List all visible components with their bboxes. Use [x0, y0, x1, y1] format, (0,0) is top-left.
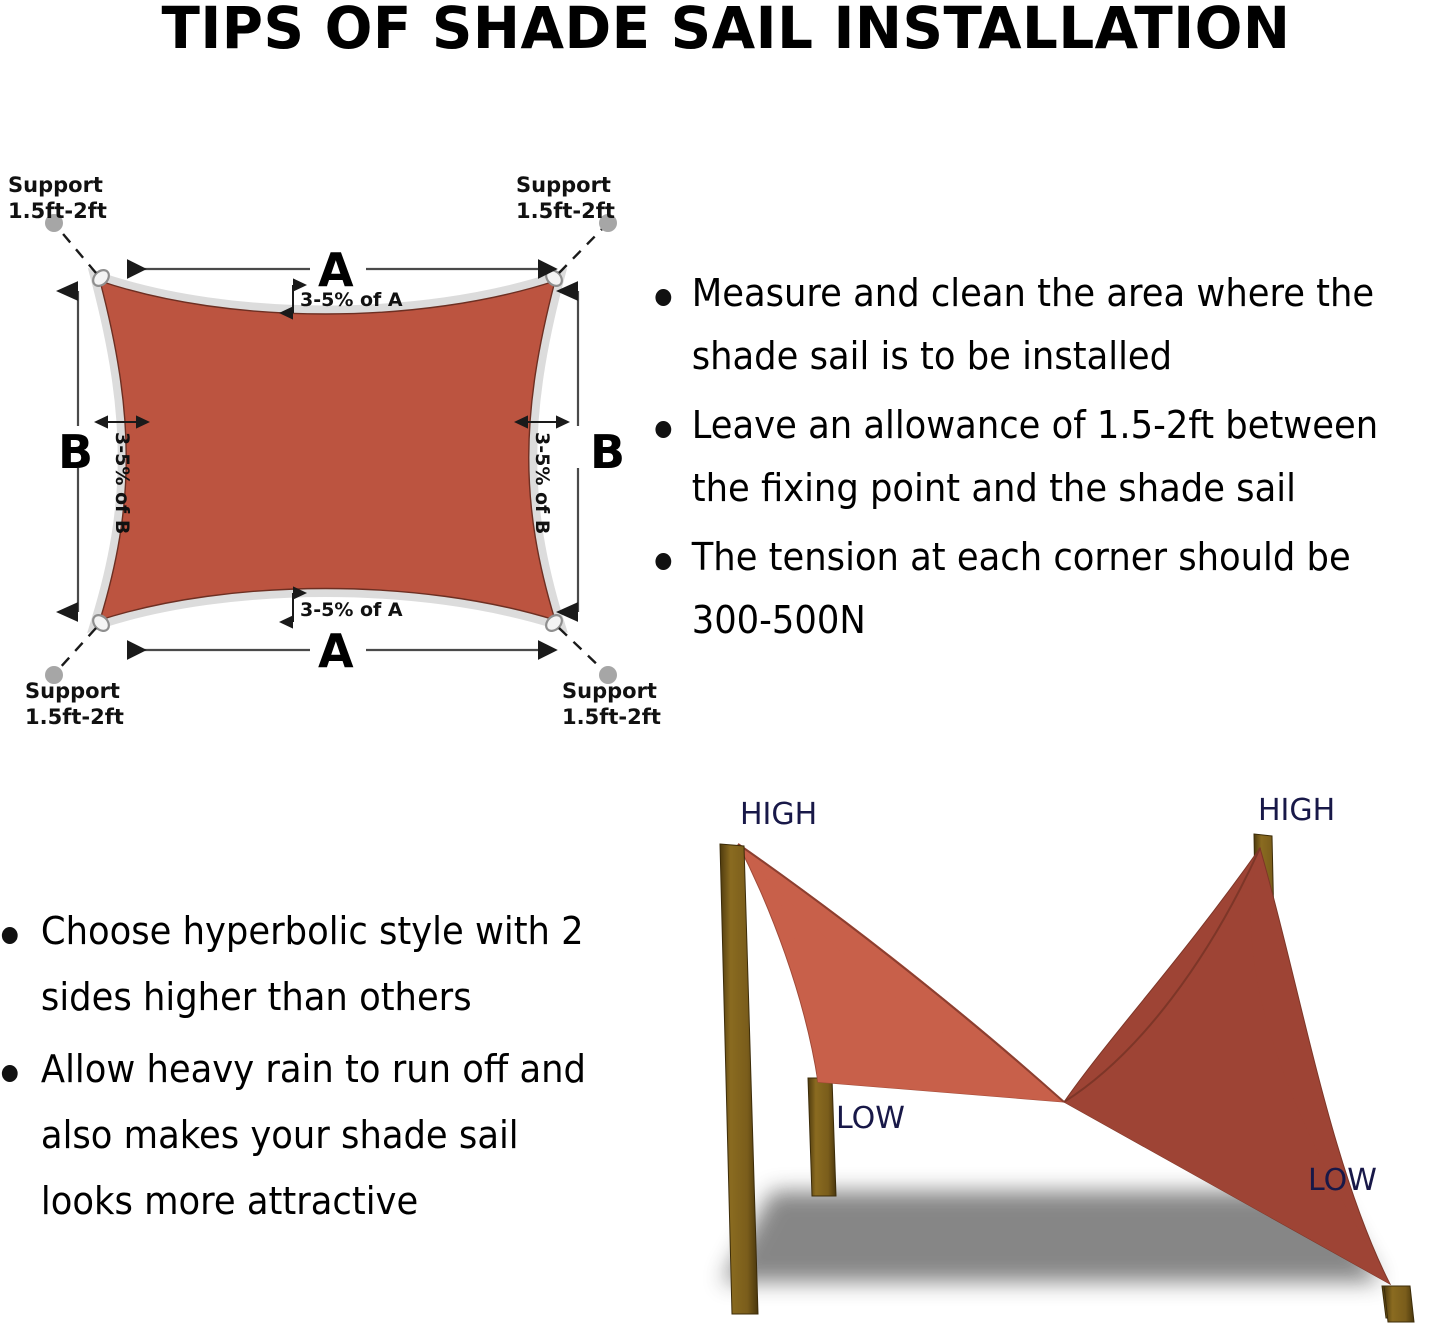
support-tether [58, 228, 96, 273]
support-label-line2: 1.5ft-2ft [25, 705, 124, 729]
hyperbolic-style-notes: Choose hyperbolic style with 2 sides hig… [0, 898, 640, 1240]
tips-bullet-list: Measure and clean the area where the sha… [648, 262, 1452, 652]
support-label-line1: Support [8, 173, 103, 197]
curvature-left: 3-5% of B [108, 422, 136, 534]
tip-text: The tension at each corner should be 300… [692, 535, 1351, 642]
list-item: Leave an allowance of 1.5-2ft between th… [648, 394, 1396, 520]
support-label-line2: 1.5ft-2ft [562, 705, 661, 729]
support-label-line1: Support [562, 679, 657, 703]
support-label-line2: 1.5ft-2ft [516, 199, 615, 223]
dimension-a-bottom: A [127, 624, 538, 678]
support-post-low-left [808, 1078, 836, 1196]
support-tether [559, 628, 603, 670]
support-label-bottom-left: Support 1.5ft-2ft [25, 679, 124, 729]
tip-text: Leave an allowance of 1.5-2ft between th… [692, 403, 1378, 510]
bullet-dot-icon [655, 289, 671, 306]
corner-label-high-left: HIGH [740, 797, 817, 832]
bullet-dot-icon [655, 553, 671, 570]
list-item: Allow heavy rain to run off and also mak… [0, 1036, 595, 1234]
support-label-top-right: Support 1.5ft-2ft [516, 173, 615, 223]
curvature-label: 3-5% of B [111, 432, 133, 534]
corner-label-high-right: HIGH [1258, 793, 1335, 828]
list-item: Measure and clean the area where the sha… [648, 262, 1396, 388]
support-post-high-left [720, 844, 758, 1314]
note-text: Allow heavy rain to run off and also mak… [41, 1047, 586, 1223]
dimension-a-label: A [318, 624, 354, 678]
list-item: Choose hyperbolic style with 2 sides hig… [0, 898, 595, 1030]
support-label-bottom-right: Support 1.5ft-2ft [562, 679, 661, 729]
page-title: TIPS OF SHADE SAIL INSTALLATION [22, 0, 1430, 60]
curvature-top: 3-5% of A [293, 285, 403, 313]
dimension-b-label: B [58, 425, 93, 479]
support-post-low-right [1384, 1286, 1414, 1322]
curvature-right: 3-5% of B [528, 422, 556, 534]
support-label-line1: Support [25, 679, 120, 703]
corner-label-low-right: LOW [1308, 1163, 1377, 1198]
dimension-b-left: B [58, 291, 93, 612]
dimension-b-label: B [590, 425, 625, 479]
curvature-label: 3-5% of A [300, 599, 403, 621]
support-label-line1: Support [516, 173, 611, 197]
support-label-top-left: Support 1.5ft-2ft [8, 173, 107, 223]
bullet-dot-icon [655, 421, 671, 438]
installation-tips-list: Measure and clean the area where the sha… [648, 262, 1452, 658]
tip-text: Measure and clean the area where the sha… [692, 271, 1374, 378]
dimension-b-right: B [578, 291, 625, 612]
bullet-dot-icon [2, 927, 18, 944]
bullet-dot-icon [2, 1065, 18, 1082]
support-tether [58, 628, 96, 670]
rectangular-sail-diagram: Support 1.5ft-2ft Support 1.5ft-2ft Supp… [0, 150, 670, 740]
list-item: The tension at each corner should be 300… [648, 526, 1396, 652]
support-label-line2: 1.5ft-2ft [8, 199, 107, 223]
curvature-label: 3-5% of A [300, 289, 403, 311]
curvature-label: 3-5% of B [531, 432, 553, 534]
corner-label-low-left: LOW [836, 1101, 905, 1136]
notes-bullet-list: Choose hyperbolic style with 2 sides hig… [0, 898, 640, 1234]
shade-sail-fabric [100, 281, 555, 620]
hyperbolic-sail-diagram: HIGH HIGH LOW LOW [660, 786, 1452, 1325]
support-tether [559, 228, 603, 273]
note-text: Choose hyperbolic style with 2 sides hig… [41, 909, 584, 1019]
